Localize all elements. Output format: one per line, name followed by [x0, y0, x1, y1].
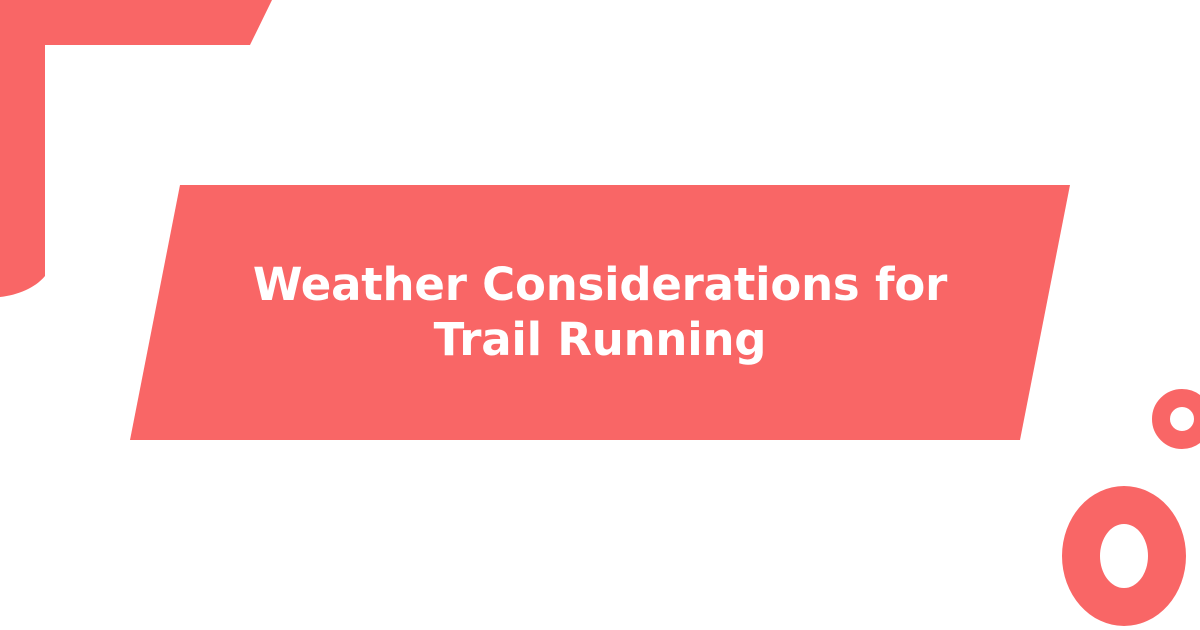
donut-large-decoration [1062, 486, 1186, 626]
social-card-canvas: Weather Considerations for Trail Running [0, 0, 1200, 630]
page-title: Weather Considerations for Trail Running [130, 185, 1070, 440]
title-banner: Weather Considerations for Trail Running [130, 185, 1070, 440]
donut-small-decoration [1152, 389, 1200, 449]
